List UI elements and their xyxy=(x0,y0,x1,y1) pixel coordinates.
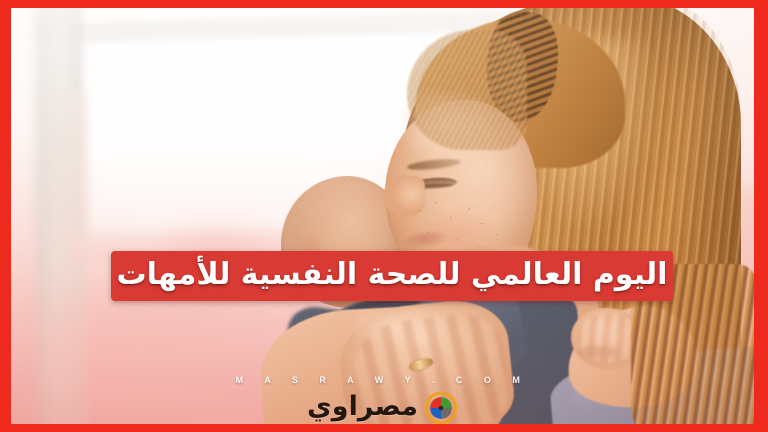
headline-text: اليوم العالمي للصحة النفسية للأمهات xyxy=(117,260,668,292)
watermark-text: M A S R A W Y . C O M xyxy=(236,375,530,385)
watermark: M A S R A W Y . C O M xyxy=(11,370,754,388)
mother-hairline-front xyxy=(407,30,527,150)
logo-wordmark: مصراوي xyxy=(307,393,418,423)
headline-banner: اليوم العالمي للصحة النفسية للأمهات xyxy=(111,251,673,301)
photo-canvas: اليوم العالمي للصحة النفسية للأمهات M A … xyxy=(11,8,754,424)
site-logo[interactable]: مصراوي xyxy=(11,391,754,424)
mother-and-baby-subject xyxy=(11,8,754,424)
baby-wrist-crease xyxy=(577,346,617,358)
news-image-card: اليوم العالمي للصحة النفسية للأمهات M A … xyxy=(0,0,768,432)
masrawy-pinwheel-logo-icon xyxy=(424,391,458,424)
